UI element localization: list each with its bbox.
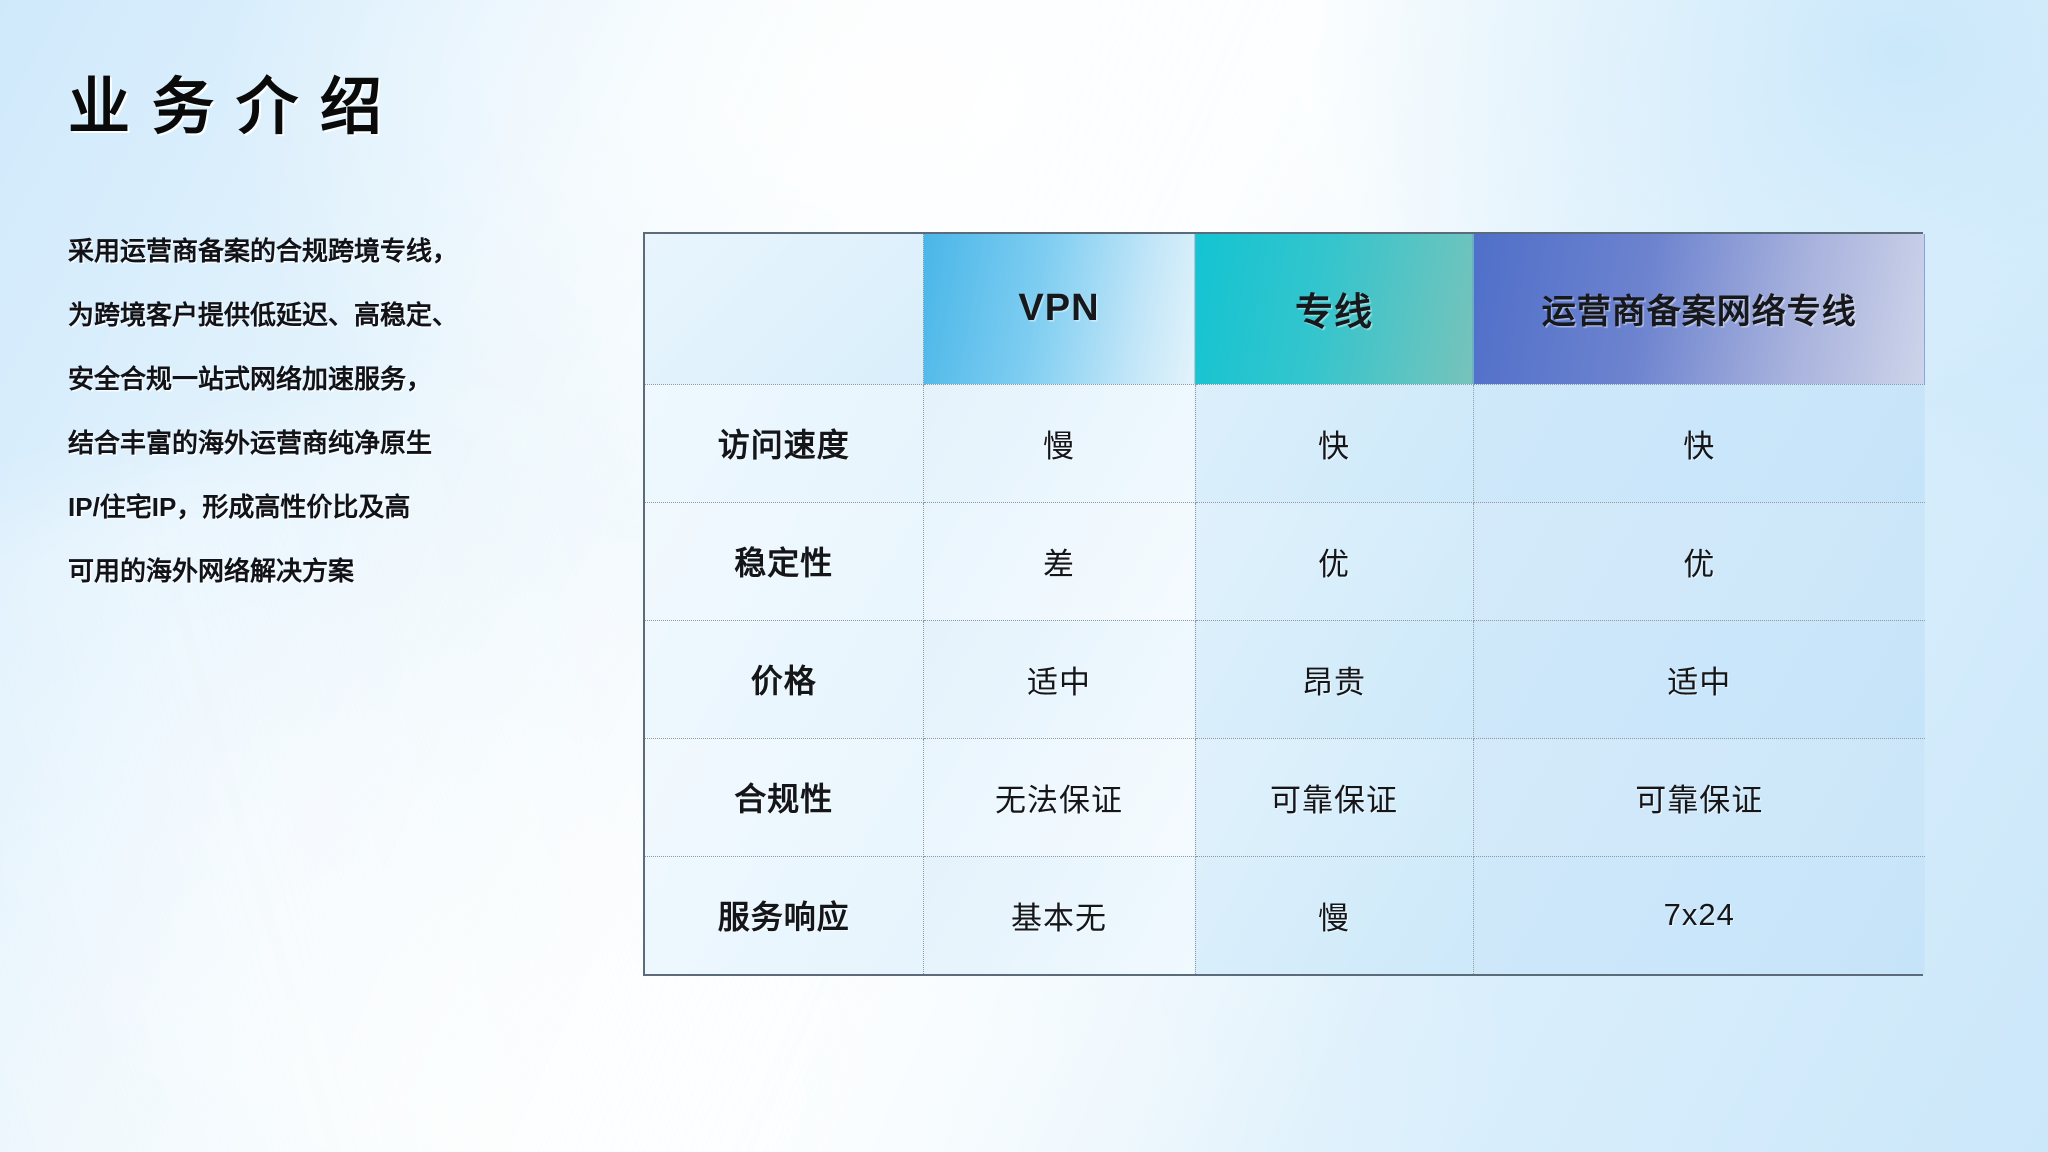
table-cell: 无法保证 xyxy=(923,738,1195,856)
table-cell: 慢 xyxy=(923,384,1195,502)
table-cell: 可靠保证 xyxy=(1473,738,1925,856)
table-header-cell-vpn: VPN xyxy=(923,234,1195,384)
table-cell: 可靠保证 xyxy=(1195,738,1473,856)
slide-canvas: 业务介绍 采用运营商备案的合规跨境专线， 为跨境客户提供低延迟、高稳定、 安全合… xyxy=(0,0,2048,1152)
table-cell-value: 7x24 xyxy=(1664,897,1735,932)
table-header-cell-carrier-filed-line: 运营商备案网络专线 xyxy=(1473,234,1925,384)
table-row-label: 稳定性 xyxy=(734,545,833,581)
table-header-cell-blank xyxy=(645,234,923,384)
intro-line: IP/住宅IP，形成高性价比及高 xyxy=(68,494,628,520)
table-cell-value: 慢 xyxy=(1043,429,1075,464)
table-cell-value: 优 xyxy=(1683,547,1715,582)
table-header-row: VPN 专线 运营商备案网络专线 xyxy=(645,234,1925,384)
table-cell-value: 昂贵 xyxy=(1302,665,1366,700)
table-cell: 快 xyxy=(1195,384,1473,502)
table-cell-value: 适中 xyxy=(1027,665,1091,700)
intro-paragraph: 采用运营商备案的合规跨境专线， 为跨境客户提供低延迟、高稳定、 安全合规一站式网… xyxy=(68,238,628,622)
table-row: 合规性 无法保证 可靠保证 可靠保证 xyxy=(645,738,1925,856)
table-row-label: 价格 xyxy=(751,663,817,699)
table-cell: 适中 xyxy=(923,620,1195,738)
table-cell-value: 可靠保证 xyxy=(1270,783,1398,818)
table-row: 访问速度 慢 快 快 xyxy=(645,384,1925,502)
table-cell-value: 慢 xyxy=(1318,901,1350,936)
table-cell-value: 可靠保证 xyxy=(1635,783,1763,818)
table-row: 服务响应 基本无 慢 7x24 xyxy=(645,856,1925,974)
table-cell: 慢 xyxy=(1195,856,1473,974)
page-title: 业务介绍 xyxy=(68,56,404,146)
table-row-label: 访问速度 xyxy=(718,427,850,463)
table-cell: 适中 xyxy=(1473,620,1925,738)
intro-line: 可用的海外网络解决方案 xyxy=(68,558,628,584)
table-row-label: 合规性 xyxy=(734,781,833,817)
table-cell: 昂贵 xyxy=(1195,620,1473,738)
table-cell-value: 快 xyxy=(1318,429,1350,464)
table-cell-value: 基本无 xyxy=(1011,901,1107,936)
table-row-label-cell: 访问速度 xyxy=(645,384,923,502)
table-row: 稳定性 差 优 优 xyxy=(645,502,1925,620)
table-row-label-cell: 稳定性 xyxy=(645,502,923,620)
table-row: 价格 适中 昂贵 适中 xyxy=(645,620,1925,738)
table-cell: 优 xyxy=(1473,502,1925,620)
table-cell: 差 xyxy=(923,502,1195,620)
table-cell: 7x24 xyxy=(1473,856,1925,974)
table-cell-value: 优 xyxy=(1318,547,1350,582)
table-header-label: 运营商备案网络专线 xyxy=(1542,293,1857,331)
intro-line: 采用运营商备案的合规跨境专线， xyxy=(68,238,628,264)
table-header-label: 专线 xyxy=(1295,292,1373,334)
table-row-label: 服务响应 xyxy=(718,899,850,935)
intro-line: 结合丰富的海外运营商纯净原生 xyxy=(68,430,628,456)
table-cell: 优 xyxy=(1195,502,1473,620)
table-row-label-cell: 价格 xyxy=(645,620,923,738)
table-cell-value: 差 xyxy=(1043,547,1075,582)
table-cell: 快 xyxy=(1473,384,1925,502)
intro-line: 安全合规一站式网络加速服务， xyxy=(68,366,628,392)
table-cell-value: 无法保证 xyxy=(995,783,1123,818)
table-header-label: VPN xyxy=(1018,287,1099,329)
table-header-cell-dedicated-line: 专线 xyxy=(1195,234,1473,384)
table-row-label-cell: 合规性 xyxy=(645,738,923,856)
table-row-label-cell: 服务响应 xyxy=(645,856,923,974)
table-cell-value: 快 xyxy=(1683,429,1715,464)
comparison-table: VPN 专线 运营商备案网络专线 访问速度 慢 xyxy=(645,234,1925,974)
intro-line: 为跨境客户提供低延迟、高稳定、 xyxy=(68,302,628,328)
table-cell-value: 适中 xyxy=(1667,665,1731,700)
table-cell: 基本无 xyxy=(923,856,1195,974)
comparison-table-container: VPN 专线 运营商备案网络专线 访问速度 慢 xyxy=(643,232,1923,976)
